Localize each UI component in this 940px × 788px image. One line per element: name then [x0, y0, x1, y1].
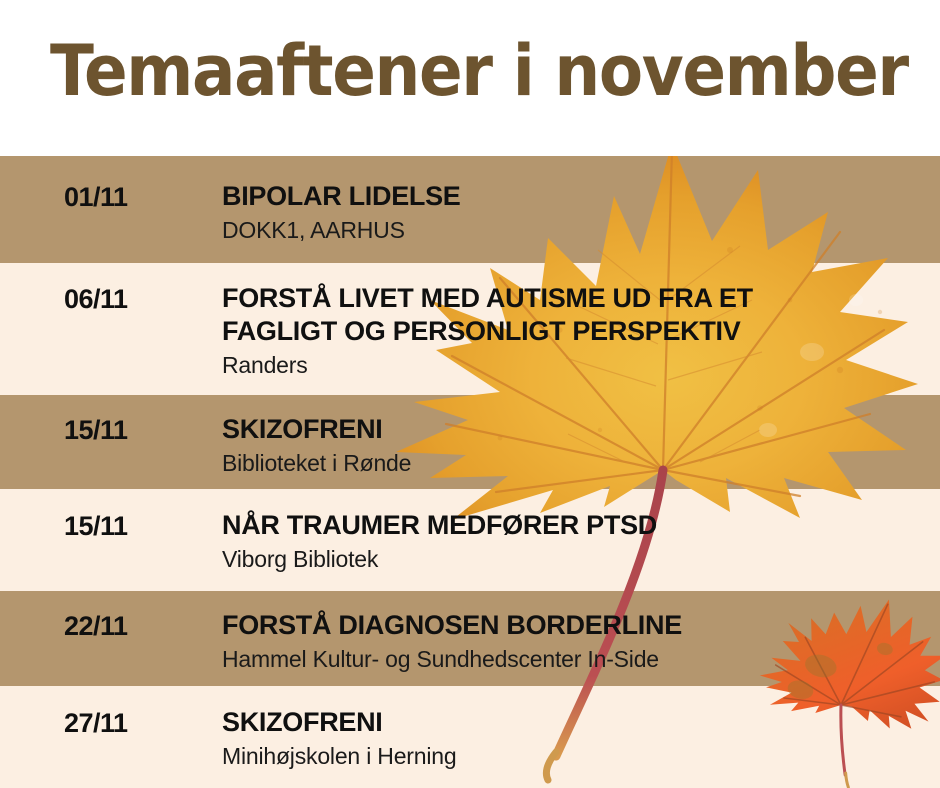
schedule-row: 22/11FORSTÅ DIAGNOSEN BORDERLINEHammel K… — [0, 591, 940, 686]
event-venue: Hammel Kultur- og Sundhedscenter In-Side — [222, 645, 930, 674]
event-title: NÅR TRAUMER MEDFØRER PTSD — [222, 509, 930, 542]
page-title: Temaaftener i november — [50, 28, 841, 114]
event-title: SKIZOFRENI — [222, 413, 930, 446]
event-date: 06/11 — [64, 284, 128, 315]
event-date: 01/11 — [64, 182, 128, 213]
schedule-row: 01/11BIPOLAR LIDELSEDOKK1, AARHUS — [0, 156, 940, 263]
event-info: SKIZOFRENIBiblioteket i Rønde — [222, 413, 930, 478]
event-venue: Biblioteket i Rønde — [222, 449, 930, 478]
event-date: 15/11 — [64, 415, 128, 446]
poster-header: Temaaftener i november — [0, 0, 940, 156]
schedule-text-layer: 01/11BIPOLAR LIDELSEDOKK1, AARHUS06/11FO… — [0, 156, 940, 788]
event-info: BIPOLAR LIDELSEDOKK1, AARHUS — [222, 180, 930, 245]
event-venue: Viborg Bibliotek — [222, 545, 930, 574]
event-title: SKIZOFRENI — [222, 706, 930, 739]
event-info: FORSTÅ LIVET MED AUTISME UD FRA ET FAGLI… — [222, 282, 930, 380]
event-title: FORSTÅ LIVET MED AUTISME UD FRA ET FAGLI… — [222, 282, 930, 348]
event-info: NÅR TRAUMER MEDFØRER PTSDViborg Bibliote… — [222, 509, 930, 574]
event-venue: Randers — [222, 351, 930, 380]
schedule-row: 15/11SKIZOFRENIBiblioteket i Rønde — [0, 395, 940, 489]
event-date: 22/11 — [64, 611, 128, 642]
schedule-row: 27/11SKIZOFRENIMinihøjskolen i Herning — [0, 686, 940, 788]
event-date: 27/11 — [64, 708, 128, 739]
event-venue: Minihøjskolen i Herning — [222, 742, 930, 771]
event-title: FORSTÅ DIAGNOSEN BORDERLINE — [222, 609, 930, 642]
event-venue: DOKK1, AARHUS — [222, 216, 930, 245]
event-info: FORSTÅ DIAGNOSEN BORDERLINEHammel Kultur… — [222, 609, 930, 674]
schedule-row: 15/11NÅR TRAUMER MEDFØRER PTSDViborg Bib… — [0, 489, 940, 591]
event-title: BIPOLAR LIDELSE — [222, 180, 930, 213]
schedule-row: 06/11FORSTÅ LIVET MED AUTISME UD FRA ET … — [0, 263, 940, 395]
poster-canvas: Temaaftener i november 01/11BIPOLAR LIDE… — [0, 0, 940, 788]
event-info: SKIZOFRENIMinihøjskolen i Herning — [222, 706, 930, 771]
event-date: 15/11 — [64, 511, 128, 542]
